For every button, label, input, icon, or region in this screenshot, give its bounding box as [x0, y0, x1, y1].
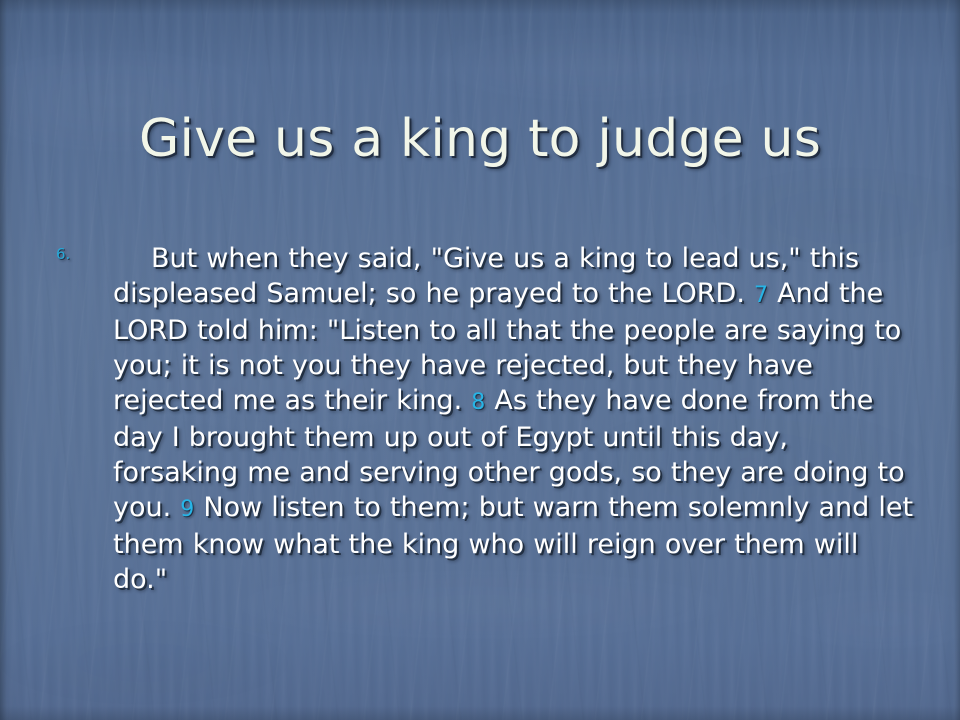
scripture-segment-4: Now listen to them; but warn them solemn… [113, 492, 913, 595]
verse-number-9: 9 [180, 497, 194, 522]
bullet-list-item: 6. But when they said, "Give us a king t… [56, 241, 918, 597]
verse-number-8: 8 [471, 390, 485, 415]
scripture-segment-1: But when they said, "Give us a king to l… [113, 243, 859, 309]
verse-number-7: 7 [754, 283, 768, 308]
slide-title: Give us a king to judge us [0, 111, 960, 167]
slide-content: Give us a king to judge us 6. But when t… [0, 0, 960, 720]
scripture-paragraph: But when they said, "Give us a king to l… [113, 241, 918, 597]
presentation-slide: Give us a king to judge us 6. But when t… [0, 0, 960, 720]
bullet-number-marker: 6. [56, 247, 96, 262]
slide-body: 6. But when they said, "Give us a king t… [56, 214, 918, 624]
